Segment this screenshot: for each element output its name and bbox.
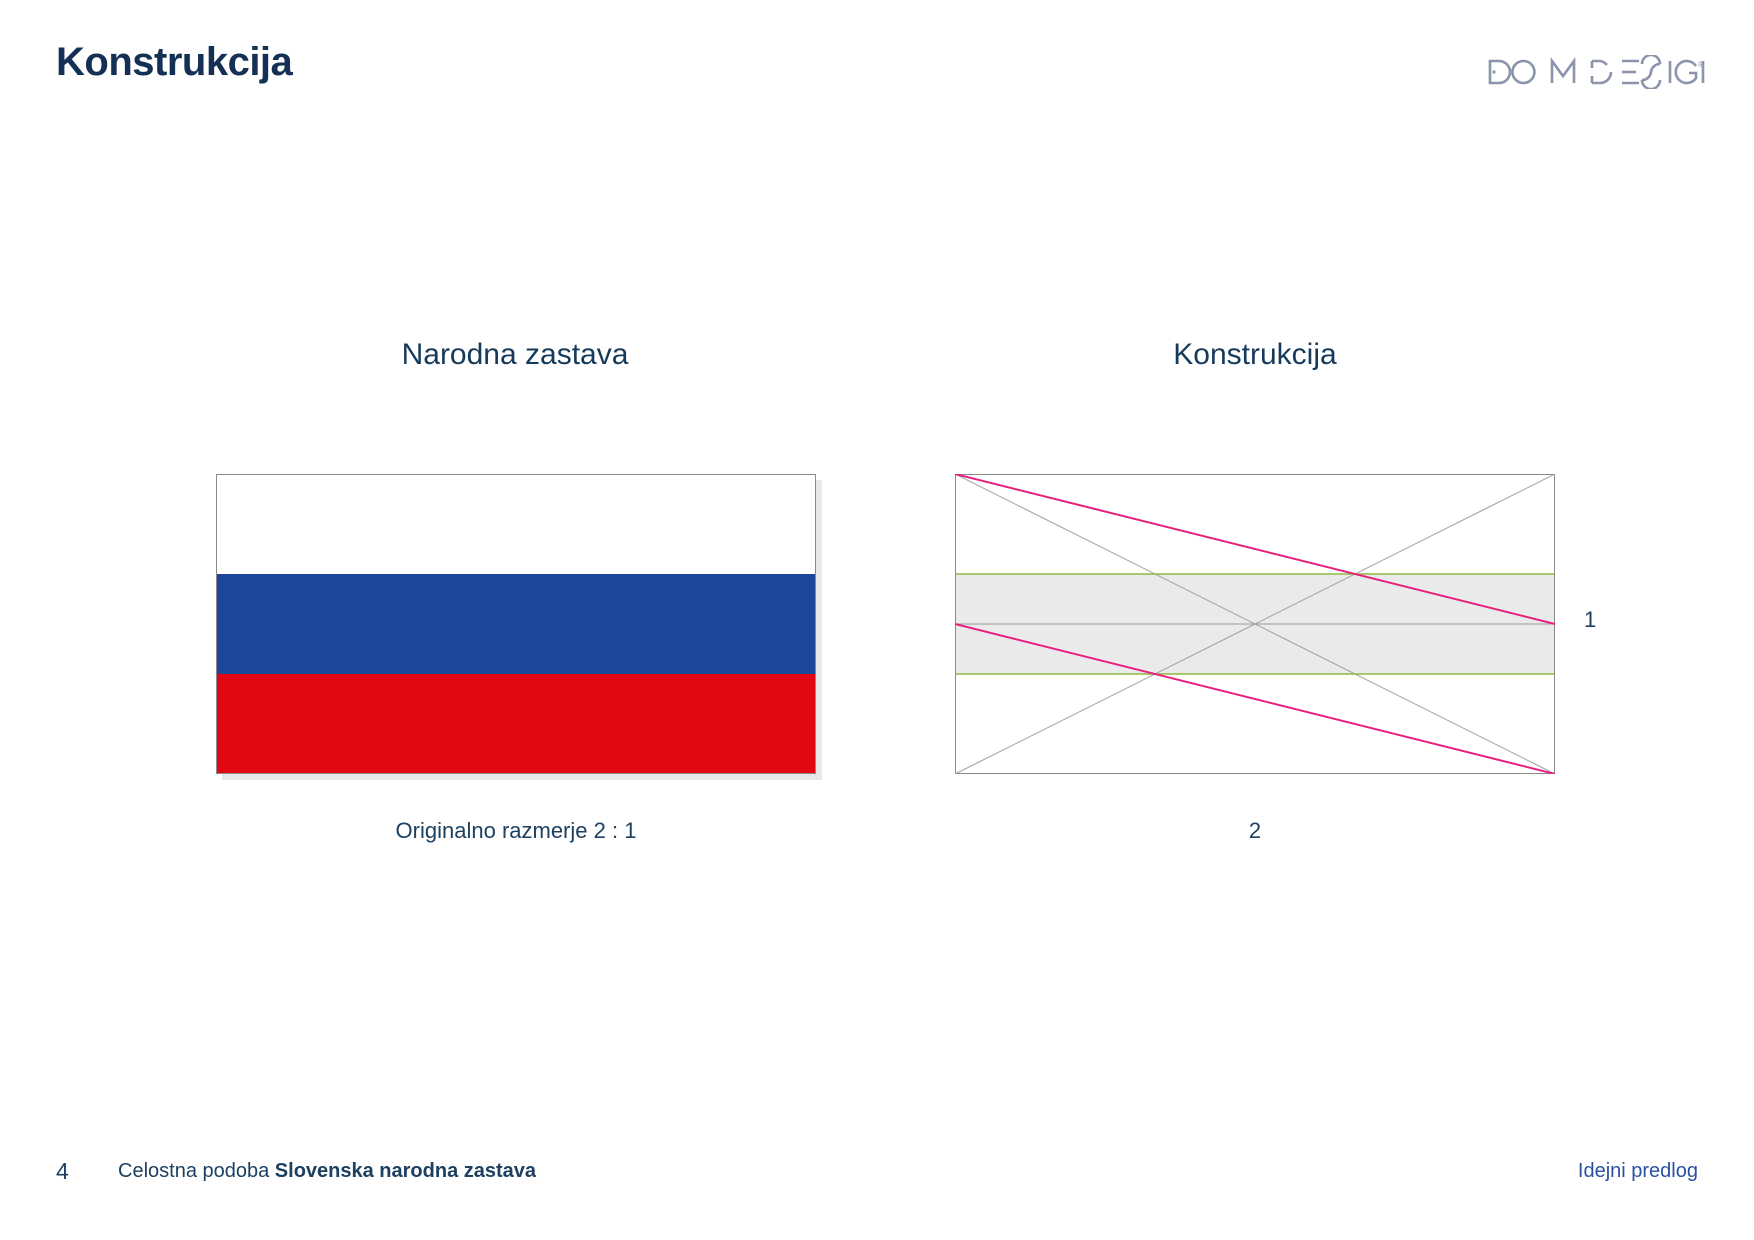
flag-stripe-red [217, 674, 815, 773]
footer-title-bold: Slovenska narodna zastava [275, 1160, 536, 1182]
page-title: Konstrukcija [56, 40, 292, 85]
left-column-heading: Narodna zastava [215, 338, 815, 372]
left-figure-caption: Originalno razmerje 2 : 1 [216, 818, 816, 844]
svg-text:®: ® [1698, 60, 1704, 69]
footer-page-number: 4 [56, 1158, 69, 1185]
footer-title-normal: Celostna podoba [118, 1160, 275, 1182]
dimension-label-height: 1 [1584, 607, 1596, 633]
footer-document-title: Celostna podoba Slovenska narodna zastav… [118, 1160, 536, 1183]
construction-figure [955, 474, 1555, 774]
flag-stripe-blue [217, 574, 815, 673]
right-figure-caption: 2 [955, 818, 1555, 844]
footer-status-label: Idejni predlog [1578, 1160, 1698, 1183]
right-column-heading: Konstrukcija [955, 338, 1555, 372]
domdesign-logo: ® [1484, 55, 1706, 89]
slovenian-national-flag [216, 474, 816, 774]
national-flag-figure [216, 474, 816, 774]
flag-stripe-white [217, 475, 815, 574]
